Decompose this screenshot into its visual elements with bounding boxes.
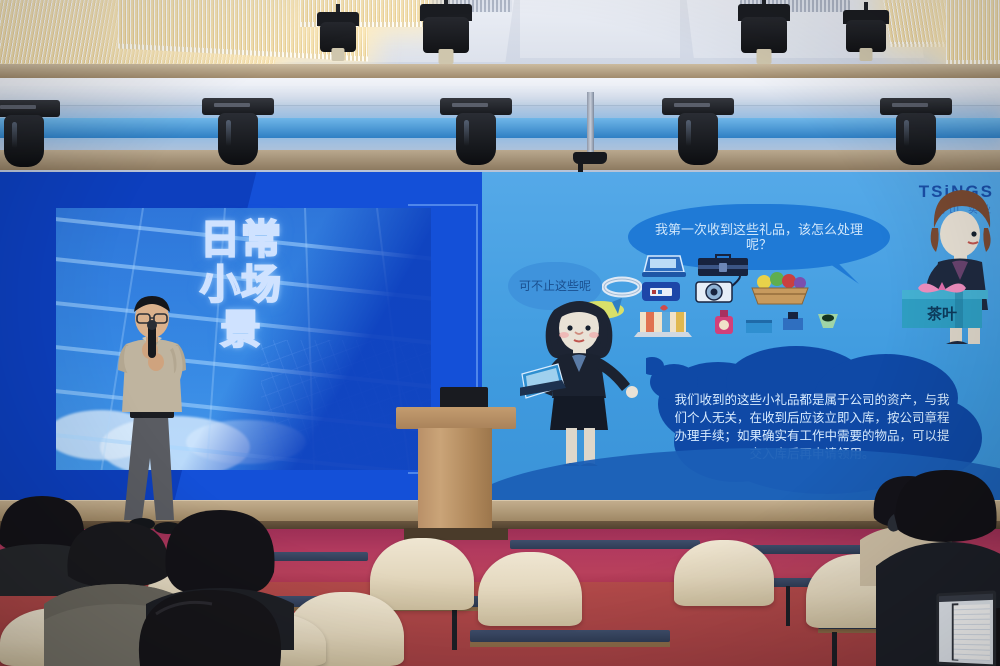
podium-top [396, 407, 516, 429]
ceiling-camera-pole [587, 92, 594, 154]
slide-right-panel: TSiNGS 青山 实业 我第一次收到这些礼品，该怎么处理呢？ 可不止这些呢 [482, 172, 1000, 502]
moving-head-light [440, 98, 512, 170]
tea-cup-icon [814, 306, 842, 334]
perfume-icon [710, 308, 738, 338]
moving-head-light [880, 98, 952, 170]
podium-column [418, 428, 492, 534]
fruit-basket-icon [750, 270, 810, 308]
tea-gift-box: 茶叶 [900, 276, 996, 338]
chair[interactable] [370, 538, 474, 610]
attendee-laptop[interactable] [936, 590, 996, 666]
slide-left-panel: 日常小场景 [0, 172, 482, 502]
ceiling [0, 0, 1000, 172]
desk [470, 630, 670, 642]
box-icon [780, 308, 806, 334]
desk-leg [832, 632, 837, 666]
stage-spotlight [420, 4, 472, 66]
desk-leg [786, 586, 790, 626]
desk-edge [470, 642, 670, 647]
gift-box-icon [744, 314, 774, 336]
camera-icon [692, 272, 744, 306]
stage-spotlight [843, 10, 889, 66]
desk-leg [452, 610, 457, 650]
crystal-chandelier [946, 0, 1000, 64]
character-woman-with-laptop [520, 296, 650, 476]
podium-monitor [440, 387, 488, 409]
stage-spotlight [738, 4, 790, 66]
chair[interactable] [674, 540, 774, 606]
conference-hall-photo: 日常小场景 TSiNGS 青山 实业 我第一次收到这些礼品，该怎么处理呢？ 可不… [0, 0, 1000, 666]
moving-head-light [662, 98, 734, 170]
tea-gift-box-label: 茶叶 [912, 303, 972, 324]
ceiling-recess-panel [520, 0, 680, 58]
moving-head-light [0, 100, 60, 170]
desk [510, 540, 700, 549]
chair[interactable] [478, 552, 582, 626]
audience-member [110, 580, 310, 666]
laptop-icon [642, 254, 686, 282]
stage-spotlight [317, 12, 359, 64]
bracelet-icon [602, 276, 642, 298]
ceiling-wood-band [0, 64, 1000, 78]
moving-head-light [202, 98, 274, 168]
